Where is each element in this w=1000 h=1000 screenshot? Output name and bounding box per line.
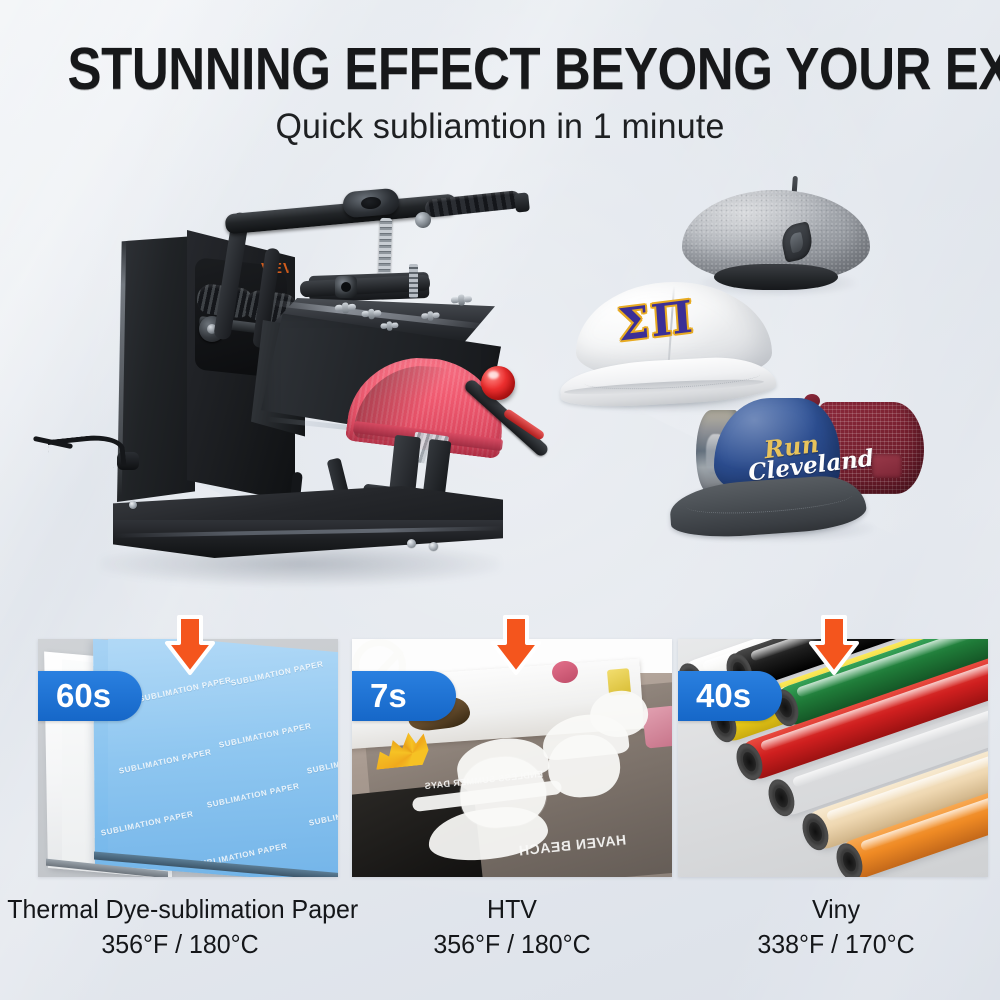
base-bolt: [407, 539, 416, 548]
wing-nut: [423, 309, 438, 324]
lever-ball-knob: [481, 366, 515, 400]
wing-nut: [364, 307, 380, 323]
base-bolt: [429, 542, 438, 551]
caption-temperature: 338°F / 170°C: [679, 926, 994, 962]
caption-title: Thermal Dye-sublimation Paper: [7, 892, 353, 926]
handle-end-cap: [514, 192, 530, 212]
promo-banner: STUNNING EFFECT BEYONG YOUR EXPECTION Qu…: [0, 0, 1000, 1000]
caption-title: Viny: [679, 892, 994, 926]
blue-sublimation-sheet: [108, 639, 338, 877]
page-subtitle: Quick subliamtion in 1 minute: [15, 107, 985, 147]
down-arrow-icon: [488, 615, 544, 677]
down-arrow-icon: [806, 615, 862, 677]
materials-row: SUBLIMATION PAPER SUBLIMATION PAPER SUBL…: [0, 639, 1000, 879]
caption-temperature: 356°F / 180°C: [7, 926, 353, 962]
caption-sublimation-paper: Thermal Dye-sublimation Paper 356°F / 18…: [0, 892, 360, 962]
wing-nut: [453, 292, 470, 309]
trucker-cap-patch: [872, 454, 902, 478]
caption-title: HTV: [358, 892, 665, 926]
product-white-cap: ΣΠ: [558, 278, 798, 410]
hero-section: VEVOR: [0, 160, 1000, 620]
caption-temperature: 356°F / 180°C: [358, 926, 665, 962]
down-arrow-icon: [162, 615, 218, 677]
caption-htv: HTV 356°F / 180°C: [352, 892, 672, 962]
page-headline: STUNNING EFFECT BEYONG YOUR EXPECTION: [68, 38, 933, 100]
wing-nut: [337, 300, 354, 317]
captions-row: Thermal Dye-sublimation Paper 356°F / 18…: [0, 892, 1000, 982]
white-cap-greek-letters: ΣΠ: [617, 295, 696, 348]
handle-pin: [414, 211, 431, 228]
wing-nut: [382, 319, 396, 333]
badge-duration-40s: 40s: [678, 671, 782, 721]
pressure-screw-lower: [409, 264, 418, 298]
power-cord: [47, 432, 126, 474]
caption-vinyl: Viny 338°F / 170°C: [672, 892, 1000, 962]
heat-press-machine: VEVOR: [95, 190, 515, 610]
bracket-nut: [335, 276, 357, 298]
badge-duration-7s: 7s: [352, 671, 456, 721]
base-bolt: [129, 501, 137, 509]
product-trucker-cap: Run Cleveland: [664, 392, 932, 552]
badge-duration-60s: 60s: [38, 671, 142, 721]
